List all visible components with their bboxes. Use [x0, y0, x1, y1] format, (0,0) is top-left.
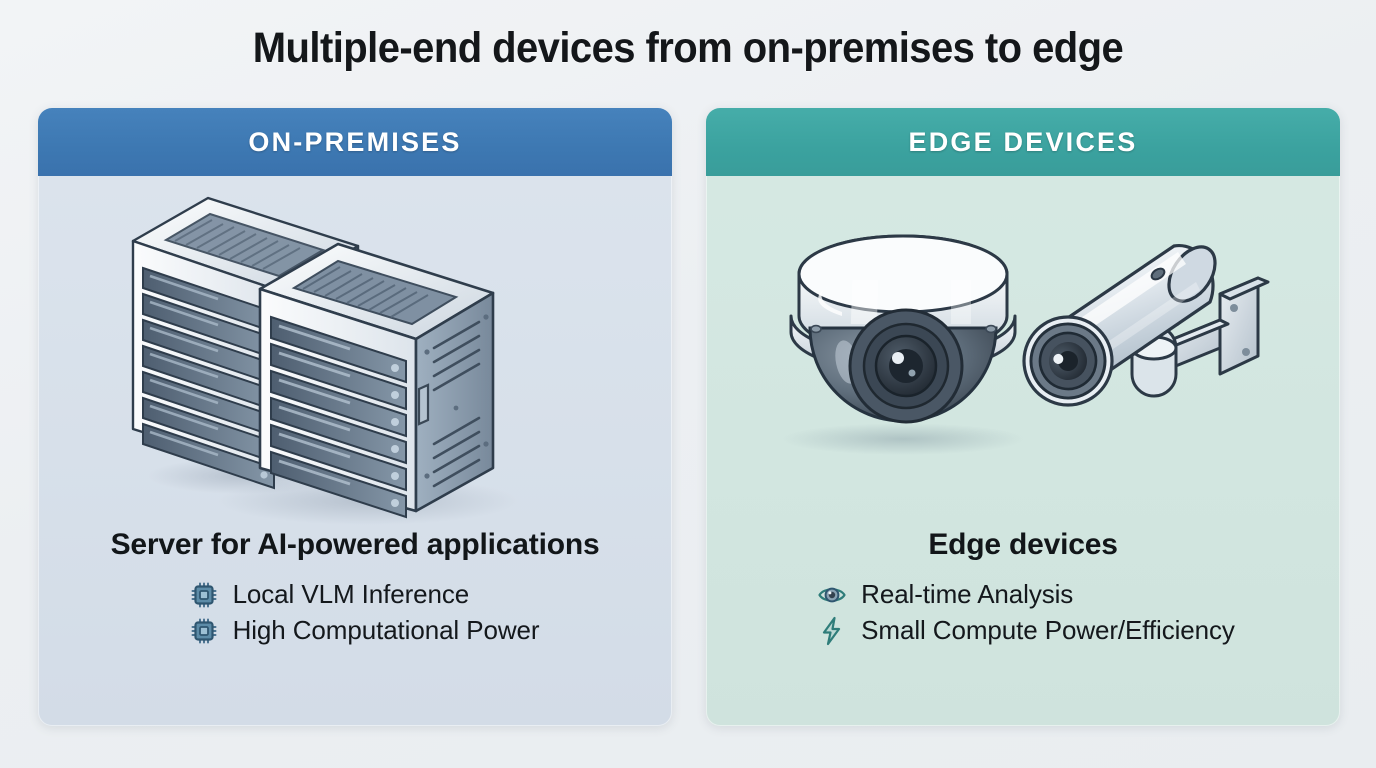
slide-canvas: Multiple-end devices from on-premises to…	[0, 0, 1376, 768]
chip-icon	[189, 616, 219, 646]
server-racks-graphic	[38, 176, 672, 536]
eye-icon	[817, 580, 847, 610]
chip-icon	[189, 580, 219, 610]
feature-label: High Computational Power	[233, 615, 540, 646]
illustration-server-racks	[38, 176, 672, 536]
illustration-security-cameras	[706, 176, 1340, 536]
feature-list-on-premises: Local VLM Inference	[189, 574, 540, 651]
feature-label: Local VLM Inference	[233, 579, 470, 610]
feature-item-small-compute-power-efficiency: Small Compute Power/Efficiency	[817, 615, 1235, 646]
feature-list-edge-devices: Real-time Analysis Small Compute Power/E…	[817, 574, 1235, 651]
feature-item-local-vlm-inference: Local VLM Inference	[189, 579, 540, 610]
panel-header-on-premises: ON-PREMISES	[38, 108, 672, 176]
panel-header-label: ON-PREMISES	[248, 127, 461, 158]
page-title: Multiple-end devices from on-premises to…	[48, 24, 1328, 73]
security-cameras-graphic	[706, 176, 1340, 536]
panel-edge-devices: EDGE DEVICES	[706, 108, 1340, 726]
caption-edge-devices: Edge devices Real-time Analysis	[706, 528, 1340, 651]
caption-on-premises: Server for AI-powered applications	[38, 528, 672, 651]
feature-label: Real-time Analysis	[861, 579, 1073, 610]
caption-title: Server for AI-powered applications	[38, 528, 672, 562]
panel-body-on-premises: Server for AI-powered applications	[38, 176, 672, 726]
panel-on-premises: ON-PREMISES	[38, 108, 672, 726]
lightning-bolt-icon	[817, 616, 847, 646]
feature-item-high-computational-power: High Computational Power	[189, 615, 540, 646]
caption-title: Edge devices	[706, 528, 1340, 562]
panel-header-label: EDGE DEVICES	[909, 127, 1138, 158]
feature-item-real-time-analysis: Real-time Analysis	[817, 579, 1235, 610]
panel-header-edge-devices: EDGE DEVICES	[706, 108, 1340, 176]
panel-body-edge-devices: Edge devices Real-time Analysis	[706, 176, 1340, 726]
feature-label: Small Compute Power/Efficiency	[861, 615, 1235, 646]
